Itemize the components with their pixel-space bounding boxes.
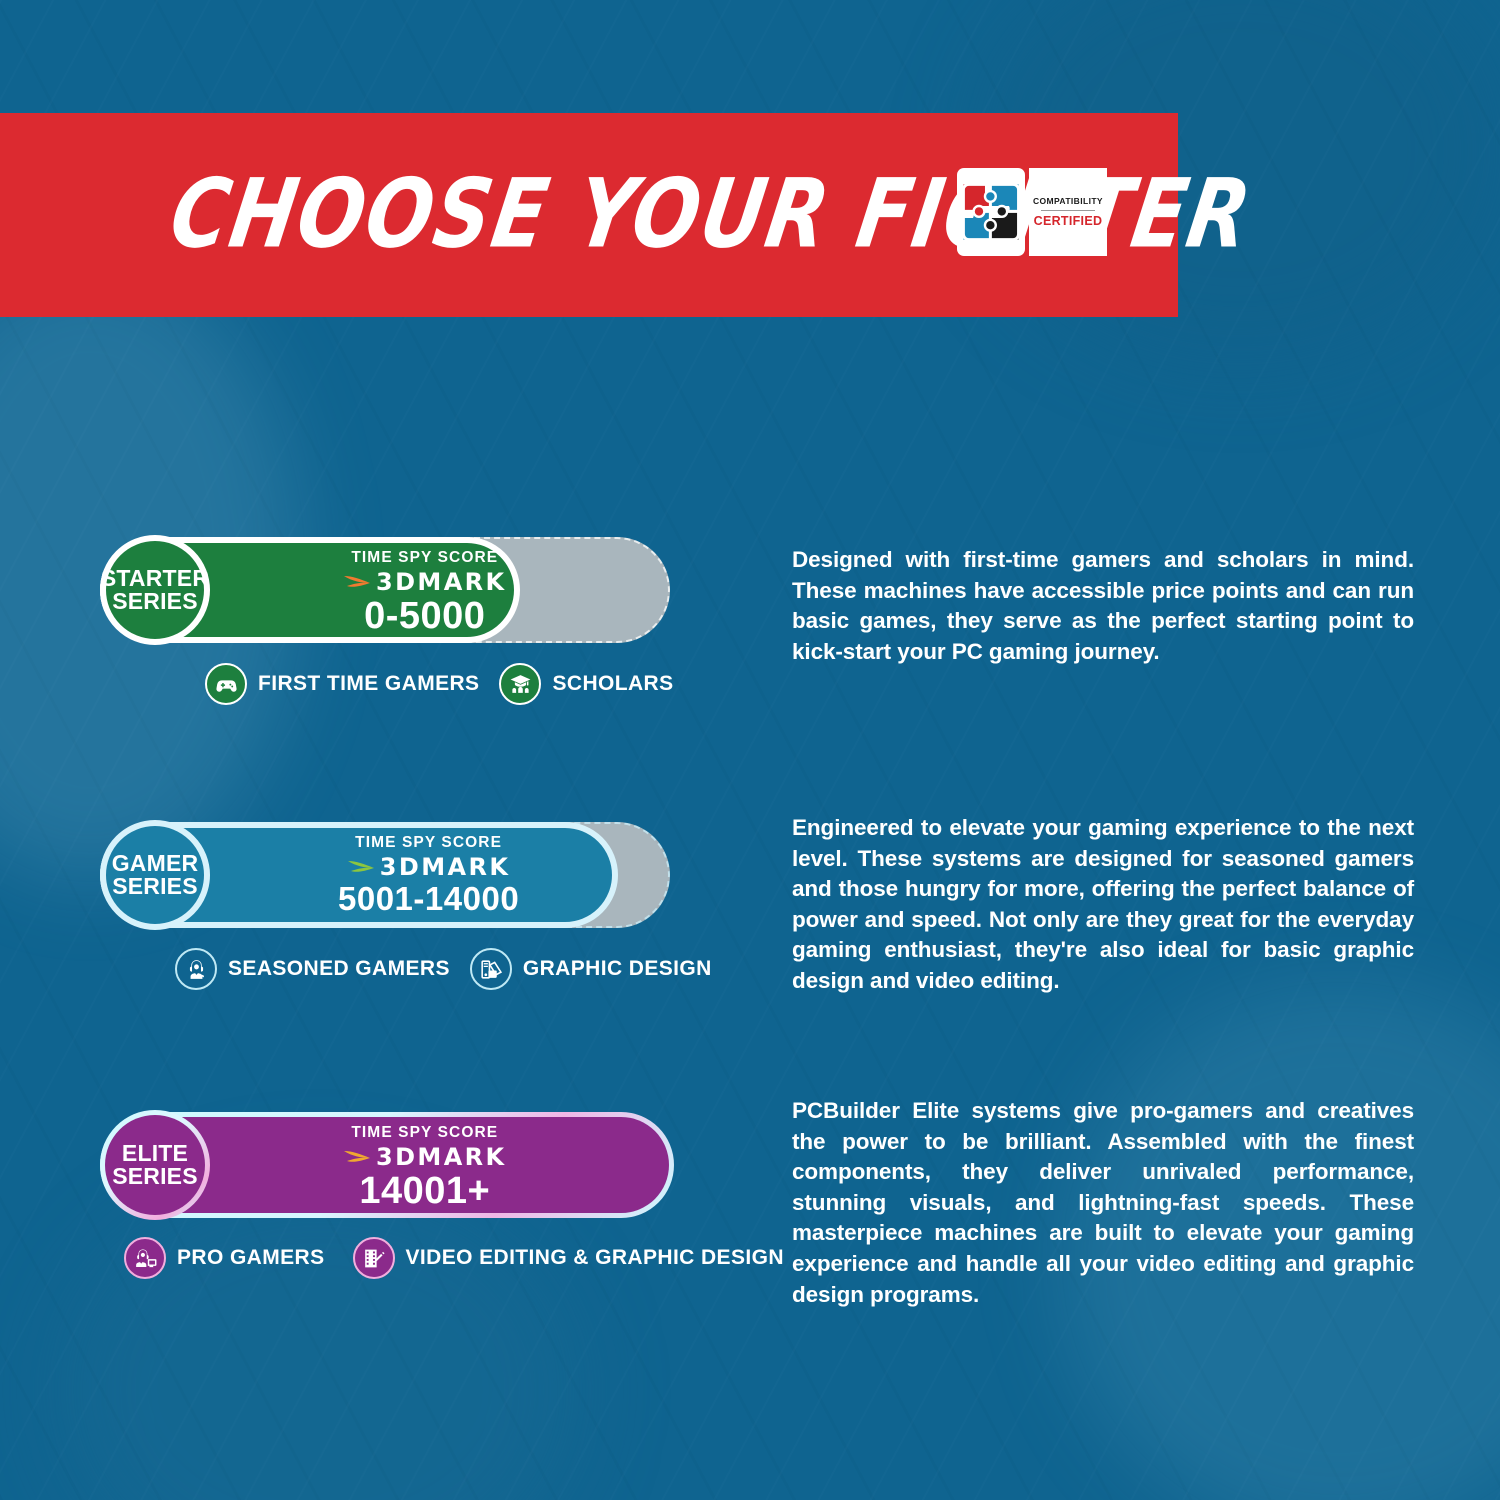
- gamer-description: Engineered to elevate your gaming experi…: [792, 813, 1414, 997]
- elite-description: PCBuilder Elite systems give pro-gamers …: [792, 1096, 1414, 1310]
- starter-description: Designed with first-time gamers and scho…: [792, 545, 1414, 667]
- gamer-tag-graphic-design[interactable]: GRAPHIC DESIGN: [470, 948, 712, 990]
- puzzle-icon: [957, 168, 1025, 256]
- starter-pill[interactable]: STARTER SERIES TIME SPY SCORE 3DMARK 0-5…: [100, 537, 670, 647]
- elite-tag-pro-gamers[interactable]: PRO GAMERS: [124, 1237, 325, 1279]
- gamepad-icon: [205, 663, 247, 705]
- film-pencil-icon: [353, 1237, 395, 1279]
- gamer-score-value: 5001-14000: [338, 882, 519, 917]
- certified-top-text: COMPATIBILITY: [1033, 196, 1103, 206]
- starter-tag-first-time-gamers[interactable]: FIRST TIME GAMERS: [205, 663, 479, 705]
- elite-series-badge[interactable]: ELITE SERIES: [100, 1110, 210, 1220]
- gamer-3dmark-wordmark: 3DMARK: [380, 855, 511, 879]
- graduation-cap-icon: [499, 663, 541, 705]
- certified-bottom-text: CERTIFIED: [1034, 214, 1103, 228]
- starter-badge-line2: SERIES: [112, 590, 198, 613]
- elite-score: TIME SPY SCORE 3DMARK 14001+: [343, 1125, 507, 1211]
- gamer-series-badge[interactable]: GAMER SERIES: [100, 820, 210, 930]
- gamer-headset-icon: [175, 948, 217, 990]
- pro-gamer-monitor-icon: [124, 1237, 166, 1279]
- starter-3dmark-wordmark: 3DMARK: [376, 570, 507, 594]
- 3dmark-swoosh-icon: [343, 571, 373, 592]
- elite-tag-video-editing[interactable]: VIDEO EDITING & GRAPHIC DESIGN: [353, 1237, 784, 1279]
- elite-pill[interactable]: ELITE SERIES TIME SPY SCORE 3DMARK 14001…: [100, 1112, 675, 1222]
- starter-series-badge[interactable]: STARTER SERIES: [100, 535, 210, 645]
- palette-swatch-icon: [470, 948, 512, 990]
- gamer-pill[interactable]: GAMER SERIES TIME SPY SCORE 3DMARK 5001-…: [100, 822, 670, 932]
- starter-tag-label-2: SCHOLARS: [552, 672, 673, 696]
- starter-score: TIME SPY SCORE 3DMARK 0-5000: [343, 550, 507, 636]
- gamer-badge-line1: GAMER: [112, 852, 199, 875]
- 3dmark-swoosh-icon: [347, 856, 377, 877]
- elite-score-value: 14001+: [359, 1172, 490, 1212]
- starter-3dmark-logo: 3DMARK: [343, 570, 507, 594]
- gamer-tag-label-2: GRAPHIC DESIGN: [523, 957, 712, 981]
- gamer-3dmark-logo: 3DMARK: [347, 855, 511, 879]
- 3dmark-swoosh-icon: [343, 1146, 373, 1167]
- gamer-badge-line2: SERIES: [112, 875, 198, 898]
- gamer-score: TIME SPY SCORE 3DMARK 5001-14000: [338, 835, 519, 916]
- starter-tag-label-1: FIRST TIME GAMERS: [258, 672, 479, 696]
- starter-badge-line1: STARTER: [101, 567, 209, 590]
- starter-tags: FIRST TIME GAMERS SCHOLARS: [205, 663, 674, 705]
- starter-score-caption: TIME SPY SCORE: [351, 550, 498, 566]
- certified-label: COMPATIBILITY CERTIFIED: [1029, 168, 1107, 256]
- starter-tag-scholars[interactable]: SCHOLARS: [499, 663, 673, 705]
- elite-3dmark-wordmark: 3DMARK: [376, 1145, 507, 1169]
- gamer-tag-label-1: SEASONED GAMERS: [228, 957, 450, 981]
- elite-tag-label-2: VIDEO EDITING & GRAPHIC DESIGN: [406, 1246, 784, 1270]
- elite-badge-line2: SERIES: [112, 1165, 198, 1188]
- elite-3dmark-logo: 3DMARK: [343, 1145, 507, 1169]
- starter-score-value: 0-5000: [364, 597, 485, 637]
- elite-tag-label-1: PRO GAMERS: [177, 1246, 325, 1270]
- gamer-score-caption: TIME SPY SCORE: [355, 835, 502, 851]
- gamer-tags: SEASONED GAMERS GRAPHIC DESIGN: [175, 948, 712, 990]
- compatibility-certified-badge: COMPATIBILITY CERTIFIED: [957, 168, 1107, 256]
- certified-divider: [1041, 210, 1096, 211]
- elite-score-caption: TIME SPY SCORE: [351, 1125, 498, 1141]
- elite-tags: PRO GAMERS VIDEO EDITING & GRAPHIC DESIG…: [124, 1237, 784, 1279]
- elite-badge-line1: ELITE: [122, 1142, 188, 1165]
- gamer-tag-seasoned-gamers[interactable]: SEASONED GAMERS: [175, 948, 450, 990]
